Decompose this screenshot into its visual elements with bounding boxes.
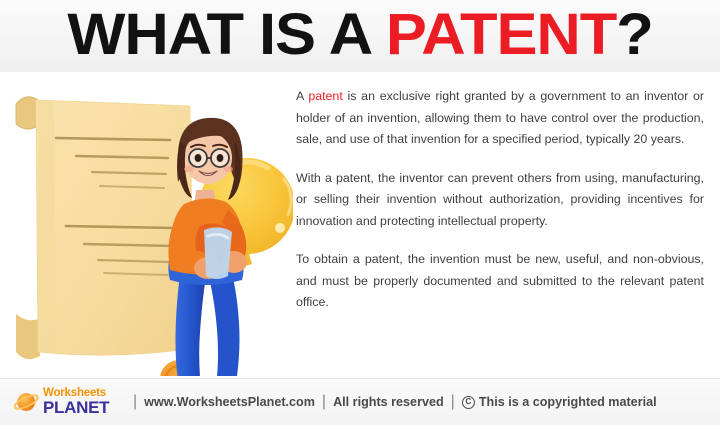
planet-icon: [14, 389, 40, 415]
brand-logo[interactable]: Worksheets PLANET: [14, 388, 126, 417]
brand-wordmark: Worksheets PLANET: [43, 388, 109, 417]
content-area: A patent is an exclusive right granted b…: [0, 72, 720, 378]
footer-copyright-text: This is a copyrighted material: [479, 395, 657, 409]
page-title: WHAT IS A PATENT?: [67, 6, 652, 64]
footer-bar: Worksheets PLANET | www.WorksheetsPlanet…: [0, 378, 720, 425]
footer-website[interactable]: www.WorksheetsPlanet.com: [144, 395, 315, 409]
copyright-icon: C: [462, 396, 475, 409]
illustration: [8, 76, 293, 376]
footer-divider-3: |: [451, 394, 455, 410]
footer-credits: www.WorksheetsPlanet.com | All rights re…: [144, 394, 656, 410]
paragraph-1: A patent is an exclusive right granted b…: [296, 86, 704, 151]
footer-divider-1: |: [133, 394, 137, 410]
title-question-mark: ?: [616, 2, 653, 67]
title-part-black: WHAT IS A: [67, 2, 385, 67]
paragraph-1-lead: A: [296, 89, 308, 103]
footer-divider-2: |: [322, 394, 326, 410]
paragraph-3: To obtain a patent, the invention must b…: [296, 249, 704, 314]
description-text: A patent is an exclusive right granted b…: [296, 86, 704, 314]
paragraph-1-rest: is an exclusive right granted by a gover…: [296, 89, 704, 146]
header-banner: WHAT IS A PATENT?: [0, 0, 720, 72]
paragraph-1-highlight: patent: [308, 89, 342, 103]
paragraph-2: With a patent, the inventor can prevent …: [296, 168, 704, 233]
title-part-highlight: PATENT: [386, 2, 616, 67]
footer-rights: All rights reserved: [333, 395, 444, 409]
brand-line-2: PLANET: [43, 399, 109, 416]
poster-root: WHAT IS A PATENT?: [0, 0, 720, 424]
